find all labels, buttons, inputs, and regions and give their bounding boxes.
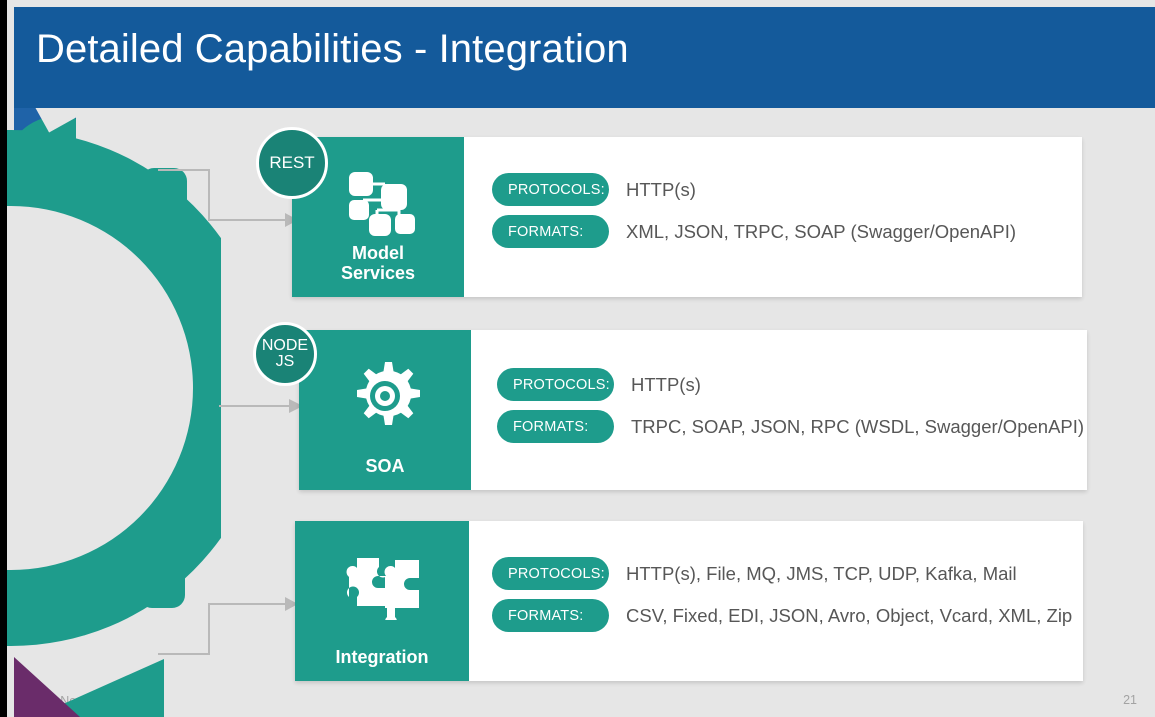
- capability-attrs-1: PROTOCOLS: HTTP(s) FORMATS: XML, JSON, T…: [492, 137, 1082, 297]
- capability-attrs-3: PROTOCOLS: HTTP(s), File, MQ, JMS, TCP, …: [492, 521, 1083, 681]
- formats-pill: FORMATS:: [492, 215, 609, 248]
- badge-label-line: JS: [276, 354, 295, 370]
- attr-row-protocols: PROTOCOLS: HTTP(s): [497, 368, 701, 401]
- footer-purple-triangle: [14, 657, 80, 717]
- capability-card-1[interactable]: Model Services PROTOCOLS: HTTP(s) FORMAT…: [292, 137, 1082, 297]
- badge-label-line: NODE: [262, 338, 308, 354]
- puzzle-pieces-icon: [336, 547, 428, 627]
- network-nodes-icon: [332, 163, 424, 243]
- badge-label: REST: [269, 154, 314, 171]
- badge-rest[interactable]: REST: [256, 127, 328, 199]
- badge-nodejs[interactable]: NODE JS: [253, 322, 317, 386]
- tile-label-line: Services: [341, 263, 415, 283]
- attr-row-formats: FORMATS: XML, JSON, TRPC, SOAP (Swagger/…: [492, 215, 1016, 248]
- capability-tile-2: SOA: [299, 330, 471, 490]
- attr-row-protocols: PROTOCOLS: HTTP(s), File, MQ, JMS, TCP, …: [492, 557, 1017, 590]
- capability-card-3[interactable]: Integration PROTOCOLS: HTTP(s), File, MQ…: [295, 521, 1083, 681]
- slide-canvas: Detailed Capabilities - Integration Inte…: [0, 0, 1155, 717]
- capability-tile-3: Integration: [295, 521, 469, 681]
- connector-line-2: [219, 398, 307, 414]
- attr-row-formats: FORMATS: CSV, Fixed, EDI, JSON, Avro, Ob…: [492, 599, 1072, 632]
- capability-tile-label-1: Model Services: [292, 243, 464, 283]
- capability-tile-label-3: Integration: [295, 647, 469, 667]
- protocols-pill: PROTOCOLS:: [497, 368, 614, 401]
- page-title: Detailed Capabilities - Integration: [36, 27, 629, 72]
- protocols-value: HTTP(s): [631, 374, 701, 396]
- capability-attrs-2: PROTOCOLS: HTTP(s) FORMATS: TRPC, SOAP, …: [497, 330, 1087, 490]
- capability-tile-label-2: SOA: [299, 456, 471, 476]
- gear-icon: [339, 356, 431, 436]
- slide-header: Detailed Capabilities - Integration: [14, 7, 1155, 108]
- capability-card-2[interactable]: SOA PROTOCOLS: HTTP(s) FORMATS: TRPC, SO…: [299, 330, 1087, 490]
- formats-value: XML, JSON, TRPC, SOAP (Swagger/OpenAPI): [626, 221, 1016, 243]
- protocols-pill: PROTOCOLS:: [492, 173, 609, 206]
- protocols-value: HTTP(s), File, MQ, JMS, TCP, UDP, Kafka,…: [626, 563, 1017, 585]
- attr-row-formats: FORMATS: TRPC, SOAP, JSON, RPC (WSDL, Sw…: [497, 410, 1084, 443]
- attr-row-protocols: PROTOCOLS: HTTP(s): [492, 173, 696, 206]
- connector-line-3: [157, 596, 302, 658]
- footer-decoration: [14, 657, 164, 717]
- formats-pill: FORMATS:: [492, 599, 609, 632]
- protocols-value: HTTP(s): [626, 179, 696, 201]
- protocols-pill: PROTOCOLS:: [492, 557, 609, 590]
- tile-label-line: Model: [352, 243, 404, 263]
- tile-label-line: SOA: [365, 456, 404, 476]
- formats-pill: FORMATS:: [497, 410, 614, 443]
- page-number: 21: [1123, 693, 1137, 707]
- formats-value: CSV, Fixed, EDI, JSON, Avro, Object, Vca…: [626, 605, 1072, 627]
- formats-value: TRPC, SOAP, JSON, RPC (WSDL, Swagger/Ope…: [631, 416, 1084, 438]
- tile-label-line: Integration: [336, 647, 429, 667]
